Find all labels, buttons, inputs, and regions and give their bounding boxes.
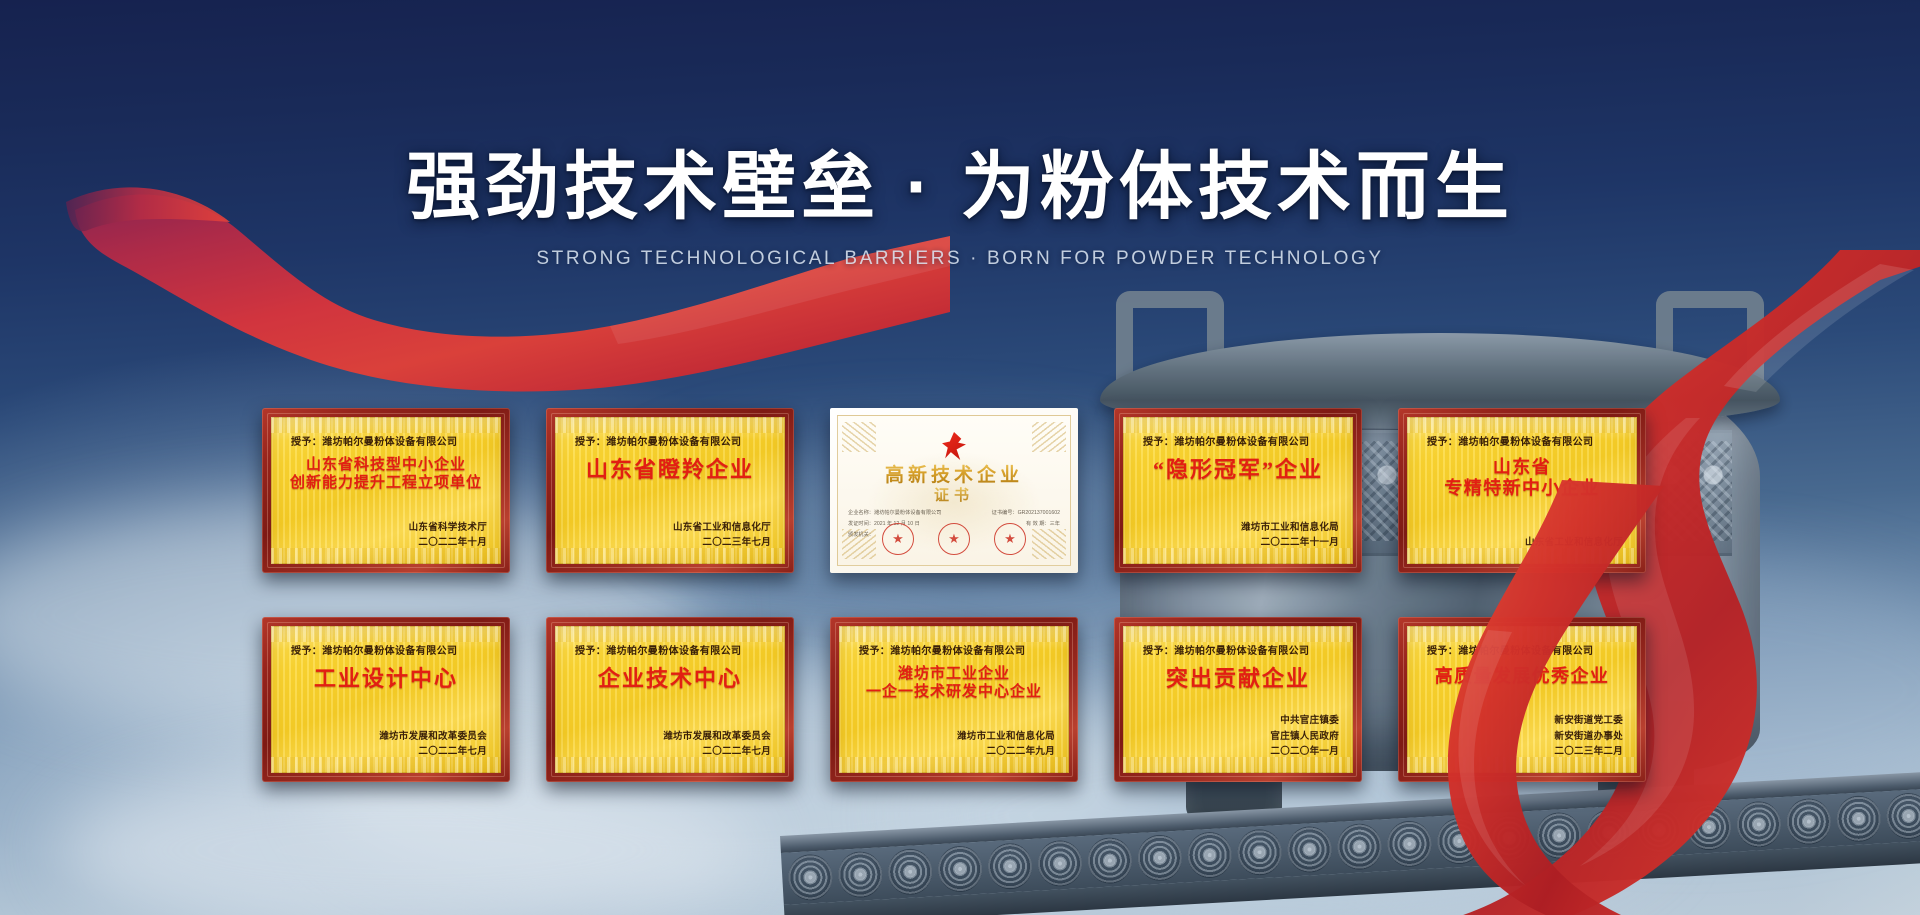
award-footer: 潍坊市发展和改革委员会 二〇二二年七月 bbox=[663, 729, 771, 759]
award-title-line: 工业设计中心 bbox=[285, 666, 487, 692]
award-issuer: 潍坊市发展和改革委员会 bbox=[379, 729, 487, 744]
parapet-medallion bbox=[1236, 828, 1282, 876]
award-issuer: 官庄镇人民政府 bbox=[1270, 729, 1339, 744]
award-footer: 中共官庄镇委 官庄镇人民政府 二〇二〇年一月 bbox=[1270, 713, 1339, 759]
parapet-medallion bbox=[1336, 822, 1382, 870]
award-title-line: 一企一技术研发中心企业 bbox=[853, 684, 1055, 702]
certificate-field-label: 企业名称：潍坊帕尔曼粉体设备有限公司 bbox=[848, 508, 941, 519]
parapet-medallion bbox=[987, 842, 1033, 890]
award-recipient: 授予：潍坊帕尔曼粉体设备有限公司 bbox=[291, 433, 487, 448]
plaque-face: 授予：潍坊帕尔曼粉体设备有限公司 山东省瞪羚企业 山东省工业和信息化厅 二〇二三… bbox=[555, 417, 785, 564]
honor-cell[interactable]: 授予：潍坊帕尔曼粉体设备有限公司 山东省 专精特新中小企业 山东省工业和信息化厅 bbox=[1398, 408, 1646, 573]
parapet-medallion bbox=[1885, 792, 1920, 840]
plaque-face: 授予：潍坊帕尔曼粉体设备有限公司 企业技术中心 潍坊市发展和改革委员会 二〇二二… bbox=[555, 626, 785, 773]
parapet-medallion bbox=[837, 850, 883, 898]
award-footer: 山东省工业和信息化厅 二〇二三年七月 bbox=[673, 520, 771, 550]
award-issuer: 潍坊市工业和信息化局 bbox=[957, 729, 1055, 744]
page-title: 强劲技术壁垒 · 为粉体技术而生 bbox=[0, 148, 1920, 226]
banner-stage: 强劲技术壁垒 · 为粉体技术而生 STRONG TECHNOLOGICAL BA… bbox=[0, 0, 1920, 915]
parapet-medallion bbox=[1835, 795, 1881, 843]
parapet-medallion bbox=[1536, 811, 1582, 859]
award-title-line: “隐形冠军”企业 bbox=[1137, 457, 1339, 483]
official-seal-icon: ★ bbox=[882, 523, 914, 555]
plaque-face: 授予：潍坊帕尔曼粉体设备有限公司 山东省 专精特新中小企业 山东省工业和信息化厅 bbox=[1407, 417, 1637, 564]
award-title-line: 企业技术中心 bbox=[569, 666, 771, 692]
honor-cell[interactable]: 授予：潍坊帕尔曼粉体设备有限公司 工业设计中心 潍坊市发展和改革委员会 二〇二二… bbox=[262, 617, 510, 782]
certificate-field-value: 证书编号：GR202137001602 bbox=[992, 508, 1060, 519]
plaque-kejixing-zhongxiao-qiye[interactable]: 授予：潍坊帕尔曼粉体设备有限公司 山东省科技型中小企业 创新能力提升工程立项单位… bbox=[262, 408, 510, 573]
honor-cell[interactable]: 高新技术企业 证书 企业名称：潍坊帕尔曼粉体设备有限公司 证书编号：GR2021… bbox=[830, 408, 1078, 573]
award-issuer: 新安街道党工委 bbox=[1554, 713, 1623, 728]
honor-cell[interactable]: 授予：潍坊帕尔曼粉体设备有限公司 山东省科技型中小企业 创新能力提升工程立项单位… bbox=[262, 408, 510, 573]
parapet-medallion bbox=[1686, 803, 1732, 851]
honor-cell[interactable]: 授予：潍坊帕尔曼粉体设备有限公司 突出贡献企业 中共官庄镇委 官庄镇人民政府 二… bbox=[1114, 617, 1362, 782]
award-title-line: 山东省科技型中小企业 bbox=[285, 457, 487, 475]
parapet-medallion bbox=[1786, 797, 1832, 845]
parapet-medallion bbox=[1037, 839, 1083, 887]
award-title: 山东省瞪羚企业 bbox=[569, 457, 771, 483]
honor-cell[interactable]: 授予：潍坊帕尔曼粉体设备有限公司 高质量发展优秀企业 新安街道党工委 新安街道办… bbox=[1398, 617, 1646, 782]
award-recipient: 授予：潍坊帕尔曼粉体设备有限公司 bbox=[1143, 642, 1339, 657]
flame-emblem-icon bbox=[941, 432, 967, 460]
award-recipient: 授予：潍坊帕尔曼粉体设备有限公司 bbox=[291, 642, 487, 657]
parapet-medallion bbox=[1436, 817, 1482, 865]
award-recipient: 授予：潍坊帕尔曼粉体设备有限公司 bbox=[1427, 642, 1623, 657]
award-title: 突出贡献企业 bbox=[1137, 666, 1339, 692]
award-date: 二〇二〇年一月 bbox=[1270, 744, 1339, 759]
award-title-line: 山东省 bbox=[1421, 457, 1623, 478]
award-title-line: 山东省瞪羚企业 bbox=[569, 457, 771, 483]
award-issuer: 山东省科学技术厅 bbox=[409, 520, 487, 535]
honor-cell[interactable]: 授予：潍坊帕尔曼粉体设备有限公司 山东省瞪羚企业 山东省工业和信息化厅 二〇二三… bbox=[546, 408, 794, 573]
award-issuer: 山东省工业和信息化厅 bbox=[1525, 535, 1623, 550]
parapet-medallion bbox=[1186, 831, 1232, 879]
award-title: 潍坊市工业企业 一企一技术研发中心企业 bbox=[853, 666, 1055, 701]
plaque-face: 授予：潍坊帕尔曼粉体设备有限公司 潍坊市工业企业 一企一技术研发中心企业 潍坊市… bbox=[839, 626, 1069, 773]
plaque-tuchu-gongxian-qiye[interactable]: 授予：潍坊帕尔曼粉体设备有限公司 突出贡献企业 中共官庄镇委 官庄镇人民政府 二… bbox=[1114, 617, 1362, 782]
plaque-yinxing-guanjun-qiye[interactable]: 授予：潍坊帕尔曼粉体设备有限公司 “隐形冠军”企业 潍坊市工业和信息化局 二〇二… bbox=[1114, 408, 1362, 573]
certificate-gaoxin-jishu-qiye[interactable]: 高新技术企业 证书 企业名称：潍坊帕尔曼粉体设备有限公司 证书编号：GR2021… bbox=[830, 408, 1078, 573]
honors-grid: 授予：潍坊帕尔曼粉体设备有限公司 山东省科技型中小企业 创新能力提升工程立项单位… bbox=[262, 408, 1670, 782]
banner-title-block: 强劲技术壁垒 · 为粉体技术而生 STRONG TECHNOLOGICAL BA… bbox=[0, 148, 1920, 270]
award-recipient: 授予：潍坊帕尔曼粉体设备有限公司 bbox=[1427, 433, 1623, 448]
plaque-yiqi-yijishu-yanfa-zhongxin[interactable]: 授予：潍坊帕尔曼粉体设备有限公司 潍坊市工业企业 一企一技术研发中心企业 潍坊市… bbox=[830, 617, 1078, 782]
certificate-seals: ★ ★ ★ bbox=[838, 523, 1070, 555]
parapet-medallion bbox=[1386, 820, 1432, 868]
honors-row: 授予：潍坊帕尔曼粉体设备有限公司 山东省科技型中小企业 创新能力提升工程立项单位… bbox=[262, 408, 1670, 573]
award-title-line: 专精特新中小企业 bbox=[1421, 478, 1623, 499]
parapet-medallion bbox=[1736, 800, 1782, 848]
parapet-medallion bbox=[1137, 834, 1183, 882]
plaque-shandong-denglin-qiye[interactable]: 授予：潍坊帕尔曼粉体设备有限公司 山东省瞪羚企业 山东省工业和信息化厅 二〇二三… bbox=[546, 408, 794, 573]
parapet-medallion bbox=[1486, 814, 1532, 862]
award-recipient: 授予：潍坊帕尔曼粉体设备有限公司 bbox=[575, 433, 771, 448]
award-recipient: 授予：潍坊帕尔曼粉体设备有限公司 bbox=[575, 642, 771, 657]
plaque-face: 授予：潍坊帕尔曼粉体设备有限公司 山东省科技型中小企业 创新能力提升工程立项单位… bbox=[271, 417, 501, 564]
award-issuer: 中共官庄镇委 bbox=[1270, 713, 1339, 728]
award-date: 二〇二二年七月 bbox=[663, 744, 771, 759]
award-footer: 山东省工业和信息化厅 bbox=[1525, 535, 1623, 550]
award-title: 山东省科技型中小企业 创新能力提升工程立项单位 bbox=[285, 457, 487, 492]
plaque-qiye-jishu-zhongxin[interactable]: 授予：潍坊帕尔曼粉体设备有限公司 企业技术中心 潍坊市发展和改革委员会 二〇二二… bbox=[546, 617, 794, 782]
award-footer: 潍坊市发展和改革委员会 二〇二二年七月 bbox=[379, 729, 487, 759]
parapet-medallion bbox=[1586, 809, 1632, 857]
award-footer: 山东省科学技术厅 二〇二二年十月 bbox=[409, 520, 487, 550]
award-title-line: 突出贡献企业 bbox=[1137, 666, 1339, 692]
award-issuer: 山东省工业和信息化厅 bbox=[673, 520, 771, 535]
award-date: 二〇二三年七月 bbox=[673, 535, 771, 550]
award-issuer: 潍坊市工业和信息化局 bbox=[1241, 520, 1339, 535]
plaque-gaozhiliang-fazhan-youxiu-qiye[interactable]: 授予：潍坊帕尔曼粉体设备有限公司 高质量发展优秀企业 新安街道党工委 新安街道办… bbox=[1398, 617, 1646, 782]
certificate-field-row: 企业名称：潍坊帕尔曼粉体设备有限公司 证书编号：GR202137001602 bbox=[848, 508, 1060, 519]
award-title: 企业技术中心 bbox=[569, 666, 771, 692]
parapet-medallion bbox=[1636, 806, 1682, 854]
honor-cell[interactable]: 授予：潍坊帕尔曼粉体设备有限公司 “隐形冠军”企业 潍坊市工业和信息化局 二〇二… bbox=[1114, 408, 1362, 573]
official-seal-icon: ★ bbox=[938, 523, 970, 555]
plaque-gongye-sheji-zhongxin[interactable]: 授予：潍坊帕尔曼粉体设备有限公司 工业设计中心 潍坊市发展和改革委员会 二〇二二… bbox=[262, 617, 510, 782]
honor-cell[interactable]: 授予：潍坊帕尔曼粉体设备有限公司 潍坊市工业企业 一企一技术研发中心企业 潍坊市… bbox=[830, 617, 1078, 782]
cloud-shape bbox=[60, 760, 760, 915]
award-issuer: 潍坊市发展和改革委员会 bbox=[663, 729, 771, 744]
page-subtitle: STRONG TECHNOLOGICAL BARRIERS · BORN FOR… bbox=[0, 248, 1920, 270]
award-title: 工业设计中心 bbox=[285, 666, 487, 692]
award-issuer: 新安街道办事处 bbox=[1554, 729, 1623, 744]
award-title-line: 创新能力提升工程立项单位 bbox=[285, 475, 487, 493]
award-footer: 潍坊市工业和信息化局 二〇二二年九月 bbox=[957, 729, 1055, 759]
award-date: 二〇二三年二月 bbox=[1554, 744, 1623, 759]
award-date: 二〇二二年十一月 bbox=[1241, 535, 1339, 550]
award-title-line: 高质量发展优秀企业 bbox=[1421, 666, 1623, 687]
parapet-medallion bbox=[787, 853, 833, 901]
certificate-title: 高新技术企业 bbox=[838, 460, 1070, 487]
award-date: 二〇二二年七月 bbox=[379, 744, 487, 759]
plaque-zhuanjing-texin-zhongxiao-qiye[interactable]: 授予：潍坊帕尔曼粉体设备有限公司 山东省 专精特新中小企业 山东省工业和信息化厅 bbox=[1398, 408, 1646, 573]
parapet-medallion bbox=[887, 848, 933, 896]
award-title: 高质量发展优秀企业 bbox=[1421, 666, 1623, 687]
honors-row: 授予：潍坊帕尔曼粉体设备有限公司 工业设计中心 潍坊市发展和改革委员会 二〇二二… bbox=[262, 617, 1670, 782]
parapet-medallion bbox=[1286, 825, 1332, 873]
award-title: 山东省 专精特新中小企业 bbox=[1421, 457, 1623, 499]
certificate-inner: 高新技术企业 证书 企业名称：潍坊帕尔曼粉体设备有限公司 证书编号：GR2021… bbox=[837, 415, 1071, 566]
award-recipient: 授予：潍坊帕尔曼粉体设备有限公司 bbox=[859, 642, 1055, 657]
wheat-ornament-icon bbox=[1032, 422, 1066, 452]
award-recipient: 授予：潍坊帕尔曼粉体设备有限公司 bbox=[1143, 433, 1339, 448]
wheat-ornament-icon bbox=[842, 422, 876, 452]
honor-cell[interactable]: 授予：潍坊帕尔曼粉体设备有限公司 企业技术中心 潍坊市发展和改革委员会 二〇二二… bbox=[546, 617, 794, 782]
award-footer: 潍坊市工业和信息化局 二〇二二年十一月 bbox=[1241, 520, 1339, 550]
plaque-face: 授予：潍坊帕尔曼粉体设备有限公司 高质量发展优秀企业 新安街道党工委 新安街道办… bbox=[1407, 626, 1637, 773]
award-footer: 新安街道党工委 新安街道办事处 二〇二三年二月 bbox=[1554, 713, 1623, 759]
parapet-medallion bbox=[1087, 836, 1133, 884]
plaque-face: 授予：潍坊帕尔曼粉体设备有限公司 工业设计中心 潍坊市发展和改革委员会 二〇二二… bbox=[271, 626, 501, 773]
plaque-face: 授予：潍坊帕尔曼粉体设备有限公司 “隐形冠军”企业 潍坊市工业和信息化局 二〇二… bbox=[1123, 417, 1353, 564]
certificate-subtitle: 证书 bbox=[838, 484, 1070, 505]
plaque-face: 授予：潍坊帕尔曼粉体设备有限公司 突出贡献企业 中共官庄镇委 官庄镇人民政府 二… bbox=[1123, 626, 1353, 773]
award-title: “隐形冠军”企业 bbox=[1137, 457, 1339, 483]
award-date: 二〇二二年九月 bbox=[957, 744, 1055, 759]
award-date: 二〇二二年十月 bbox=[409, 535, 487, 550]
award-title-line: 潍坊市工业企业 bbox=[853, 666, 1055, 684]
parapet-medallion bbox=[937, 845, 983, 893]
official-seal-icon: ★ bbox=[994, 523, 1026, 555]
